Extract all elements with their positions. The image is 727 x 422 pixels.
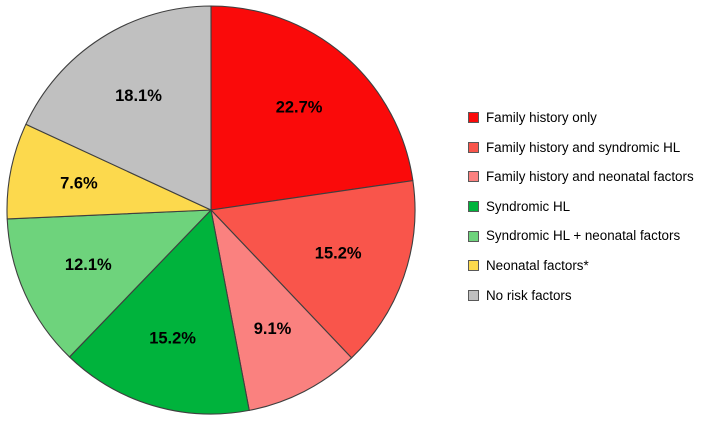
- legend-item[interactable]: Neonatal factors*: [468, 251, 727, 281]
- legend-item-label: No risk factors: [486, 289, 572, 302]
- legend-item[interactable]: Syndromic HL + neonatal factors: [468, 221, 727, 251]
- chart-legend: Family history onlyFamily history and sy…: [468, 103, 727, 310]
- legend-item-label: Syndromic HL + neonatal factors: [486, 229, 680, 242]
- legend-item-label: Syndromic HL: [486, 200, 570, 213]
- pie-slice-label: 18.1%: [115, 87, 162, 105]
- legend-swatch-icon: [468, 112, 479, 123]
- legend-item[interactable]: Syndromic HL: [468, 192, 727, 222]
- legend-item-label: Family history only: [486, 111, 597, 124]
- legend-item[interactable]: No risk factors: [468, 281, 727, 311]
- pie-slice-label: 15.2%: [315, 244, 362, 262]
- pie-chart-svg: 22.7%15.2%9.1%15.2%12.1%7.6%18.1%: [0, 0, 430, 422]
- pie-chart-figure: 22.7%15.2%9.1%15.2%12.1%7.6%18.1% Family…: [0, 0, 727, 422]
- legend-swatch-icon: [468, 171, 479, 182]
- pie-slices-group: [7, 6, 415, 414]
- pie-slice-label: 22.7%: [276, 99, 323, 117]
- legend-item-label: Neonatal factors*: [486, 259, 589, 272]
- legend-swatch-icon: [468, 231, 479, 242]
- legend-swatch-icon: [468, 290, 479, 301]
- pie-slice-label: 12.1%: [65, 256, 112, 274]
- legend-swatch-icon: [468, 260, 479, 271]
- pie-chart-plot-area: 22.7%15.2%9.1%15.2%12.1%7.6%18.1%: [0, 0, 430, 422]
- pie-slice-label: 9.1%: [254, 320, 292, 338]
- legend-item-label: Family history and syndromic HL: [486, 141, 680, 154]
- legend-item[interactable]: Family history only: [468, 103, 727, 133]
- legend-swatch-icon: [468, 142, 479, 153]
- legend-item[interactable]: Family history and neonatal factors: [468, 162, 727, 192]
- pie-slice-label: 15.2%: [149, 329, 196, 347]
- legend-item[interactable]: Family history and syndromic HL: [468, 133, 727, 163]
- pie-slice-label: 7.6%: [60, 174, 98, 192]
- legend-swatch-icon: [468, 201, 479, 212]
- legend-item-label: Family history and neonatal factors: [486, 170, 694, 183]
